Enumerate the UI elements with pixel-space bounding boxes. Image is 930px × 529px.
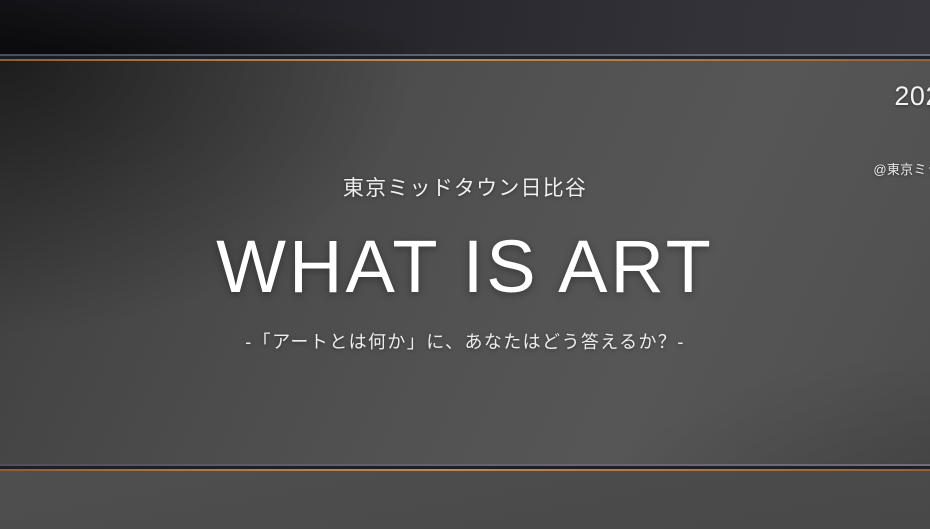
slide-tagline: -「アートとは何か」に、あなたはどう答えるか？- bbox=[0, 329, 930, 355]
event-date-line-2: -9 bbox=[560, 114, 930, 150]
copper-rule-line bbox=[0, 469, 930, 471]
presentation-slide: 2025/9 -9 @東京ミッドタウ 東京ミッドタウン日比谷 WHAT IS A… bbox=[0, 0, 930, 529]
top-divider-rules bbox=[0, 54, 930, 61]
venue-name: 東京ミッドタウン日比谷 bbox=[0, 175, 930, 203]
bottom-band bbox=[0, 471, 930, 529]
title-block: 東京ミッドタウン日比谷 WHAT IS ART -「アートとは何か」に、あなたは… bbox=[0, 175, 930, 355]
copper-rule-line bbox=[0, 59, 930, 61]
bottom-divider-rules bbox=[0, 464, 930, 471]
event-date-line-1: 2025/9 bbox=[560, 78, 930, 114]
slide-headline: WHAT IS ART bbox=[0, 225, 930, 309]
top-dark-band bbox=[0, 0, 930, 55]
event-meta-block: 2025/9 -9 @東京ミッドタウ bbox=[560, 78, 930, 178]
